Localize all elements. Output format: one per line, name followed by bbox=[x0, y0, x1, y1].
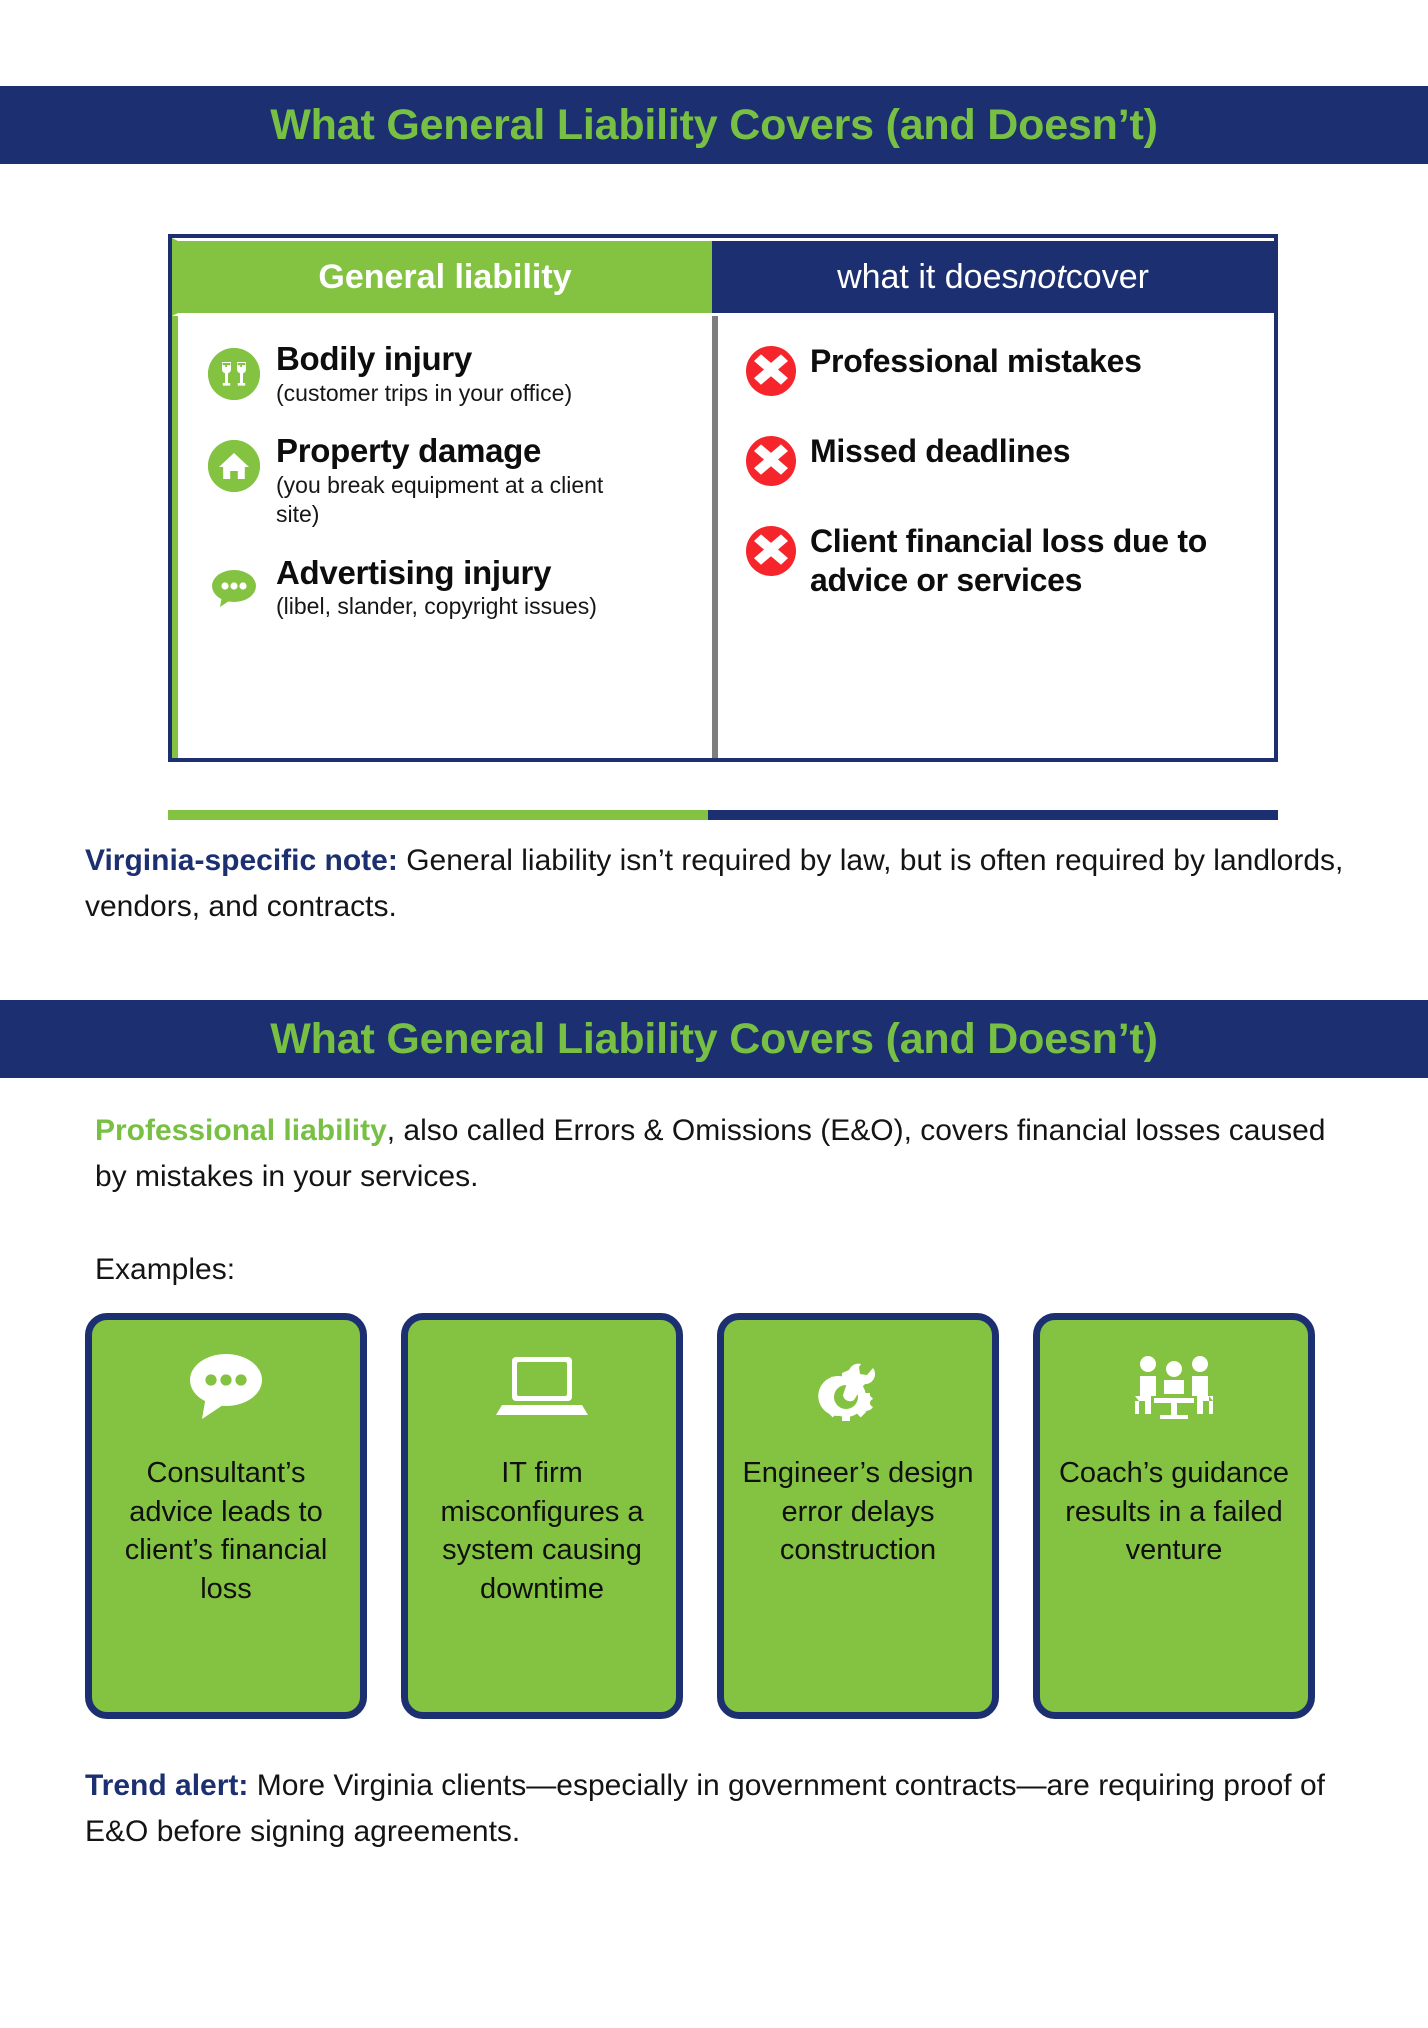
example-card-text: Engineer’s design error delays construct… bbox=[738, 1454, 978, 1570]
prof-liability-lead: Professional liability bbox=[95, 1114, 387, 1147]
examples-card-row: Consultant’s advice leads to client’s fi… bbox=[85, 1313, 1351, 1719]
covered-item-texts: Property damage (you break equipment at … bbox=[276, 434, 636, 530]
not-covered-item-title: Professional mistakes bbox=[810, 342, 1142, 381]
table-header-not-covered: what it does not cover bbox=[712, 238, 1274, 316]
example-card[interactable]: Consultant’s advice leads to client’s fi… bbox=[85, 1313, 367, 1719]
table-bottom-accent-left bbox=[168, 810, 708, 820]
covered-item-texts: Bodily injury (customer trips in your of… bbox=[276, 342, 572, 408]
top-banner: What General Liability Covers (and Doesn… bbox=[0, 86, 1428, 164]
example-card-text: IT firm misconfigures a system causing d… bbox=[422, 1454, 662, 1608]
wrench-gear-icon bbox=[813, 1346, 903, 1428]
virginia-specific-note: Virginia-specific note: General liabilit… bbox=[85, 838, 1365, 929]
table-header-row: General liability what it does not cover bbox=[172, 238, 1274, 316]
example-card[interactable]: IT firm misconfigures a system causing d… bbox=[401, 1313, 683, 1719]
not-covered-item-title: Missed deadlines bbox=[810, 432, 1070, 471]
covered-item-title: Property damage bbox=[276, 434, 636, 469]
example-card-text: Consultant’s advice leads to client’s fi… bbox=[106, 1454, 346, 1608]
meeting-people-icon bbox=[1126, 1346, 1222, 1428]
speech-bubble-icon bbox=[208, 562, 260, 614]
coverage-comparison-table: General liability what it does not cover bbox=[168, 234, 1278, 762]
top-banner-title: What General Liability Covers (and Doesn… bbox=[270, 101, 1157, 150]
not-covered-item-title: Client financial loss due to advice or s… bbox=[810, 522, 1252, 600]
glasses-icon bbox=[208, 348, 260, 400]
example-card-text: Coach’s guidance results in a failed ven… bbox=[1054, 1454, 1294, 1570]
laptop-icon bbox=[494, 1346, 590, 1428]
examples-label: Examples: bbox=[95, 1253, 235, 1287]
table-body: Bodily injury (customer trips in your of… bbox=[172, 316, 1274, 758]
red-x-icon bbox=[746, 526, 796, 576]
red-x-icon bbox=[746, 436, 796, 486]
speech-bubble-icon bbox=[180, 1346, 272, 1428]
not-covered-item: Client financial loss due to advice or s… bbox=[746, 522, 1252, 600]
virginia-note-lead: Virginia-specific note: bbox=[85, 844, 398, 877]
covered-item-detail: (libel, slander, copyright issues) bbox=[276, 592, 597, 621]
header-right-pre: what it does bbox=[837, 258, 1018, 297]
example-card[interactable]: Engineer’s design error delays construct… bbox=[717, 1313, 999, 1719]
not-covered-item: Professional mistakes bbox=[746, 342, 1252, 396]
header-right-post: cover bbox=[1066, 258, 1149, 297]
covered-item-title: Advertising injury bbox=[276, 556, 597, 591]
trend-alert-body: More Virginia clients—especially in gove… bbox=[85, 1769, 1325, 1848]
covered-item-detail: (you break equipment at a client site) bbox=[276, 471, 636, 530]
middle-banner-title: What General Liability Covers (and Doesn… bbox=[270, 1015, 1157, 1064]
table-header-general-liability: General liability bbox=[172, 238, 712, 316]
covered-item: Property damage (you break equipment at … bbox=[208, 434, 694, 530]
not-covered-column: Professional mistakes Missed deadlines bbox=[712, 316, 1274, 758]
header-right-emphasis: not bbox=[1019, 258, 1066, 297]
trend-alert-note: Trend alert: More Virginia clients—espec… bbox=[85, 1763, 1355, 1854]
middle-banner: What General Liability Covers (and Doesn… bbox=[0, 1000, 1428, 1078]
professional-liability-intro: Professional liability, also called Erro… bbox=[95, 1108, 1365, 1199]
covered-item-texts: Advertising injury (libel, slander, copy… bbox=[276, 556, 597, 622]
covered-column: Bodily injury (customer trips in your of… bbox=[172, 316, 712, 758]
not-covered-item: Missed deadlines bbox=[746, 432, 1252, 486]
trend-alert-lead: Trend alert: bbox=[85, 1769, 248, 1802]
table-bottom-accent-right bbox=[708, 810, 1278, 820]
covered-item-title: Bodily injury bbox=[276, 342, 572, 377]
home-icon bbox=[208, 440, 260, 492]
red-x-icon bbox=[746, 346, 796, 396]
example-card[interactable]: Coach’s guidance results in a failed ven… bbox=[1033, 1313, 1315, 1719]
covered-item: Bodily injury (customer trips in your of… bbox=[208, 342, 694, 408]
covered-item-detail: (customer trips in your office) bbox=[276, 379, 572, 408]
covered-item: Advertising injury (libel, slander, copy… bbox=[208, 556, 694, 622]
